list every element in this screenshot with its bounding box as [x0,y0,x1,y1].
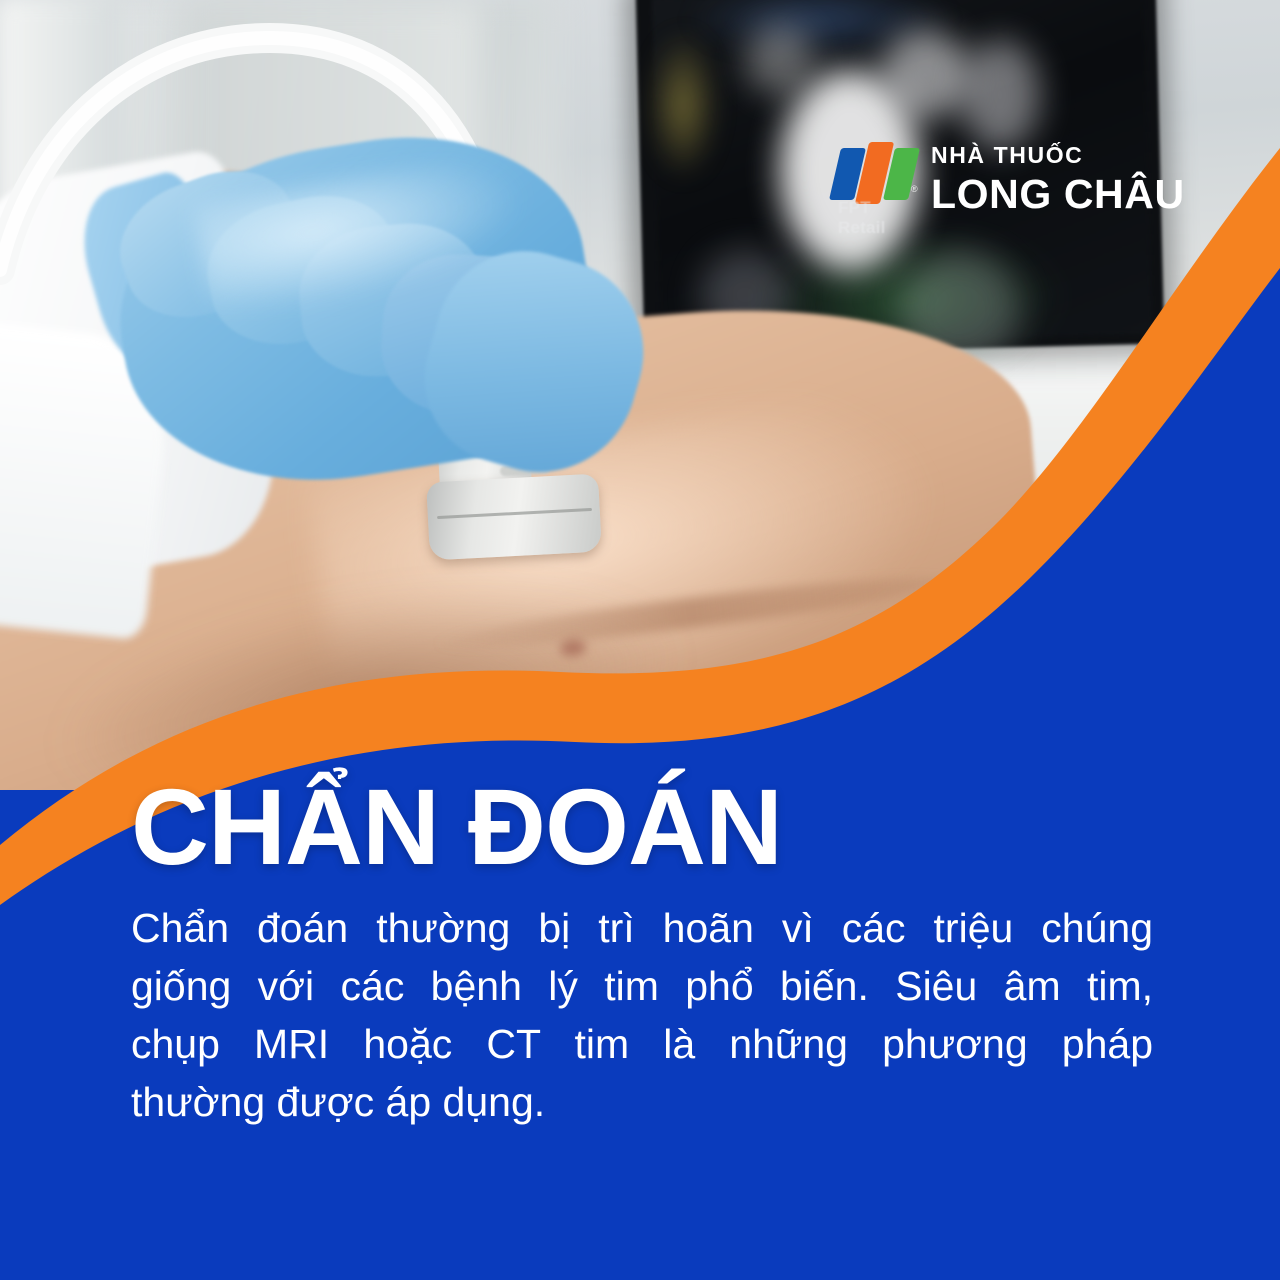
poster-canvas: ® FPT Retail NHÀ THUỐC LONG CHÂU CHẨN ĐO… [0,0,1280,1280]
body-line: chụp MRI hoặc CT tim là những phương phá… [131,1015,1153,1073]
body-line: Chẩn đoán thường bị trì hoãn vì các triệ… [131,899,1153,957]
brand-line-2: LONG CHÂU [931,174,1185,215]
brand-line-1: NHÀ THUỐC [931,144,1185,167]
body-line: thường được áp dụng. [131,1073,1153,1131]
brand-wordmark: NHÀ THUỐC LONG CHÂU [931,144,1185,215]
page-title: CHẨN ĐOÁN [131,773,782,881]
registered-mark: ® [911,184,918,194]
body-paragraph: Chẩn đoán thường bị trì hoãn vì các triệ… [131,899,1153,1131]
logo-subtext: FPT Retail [838,198,917,238]
brand-logo: ® FPT Retail NHÀ THUỐC LONG CHÂU [833,140,1185,218]
fpt-retail-logo-icon: ® FPT Retail [833,140,917,218]
body-line: giống với các bệnh lý tim phổ biến. Siêu… [131,957,1153,1015]
